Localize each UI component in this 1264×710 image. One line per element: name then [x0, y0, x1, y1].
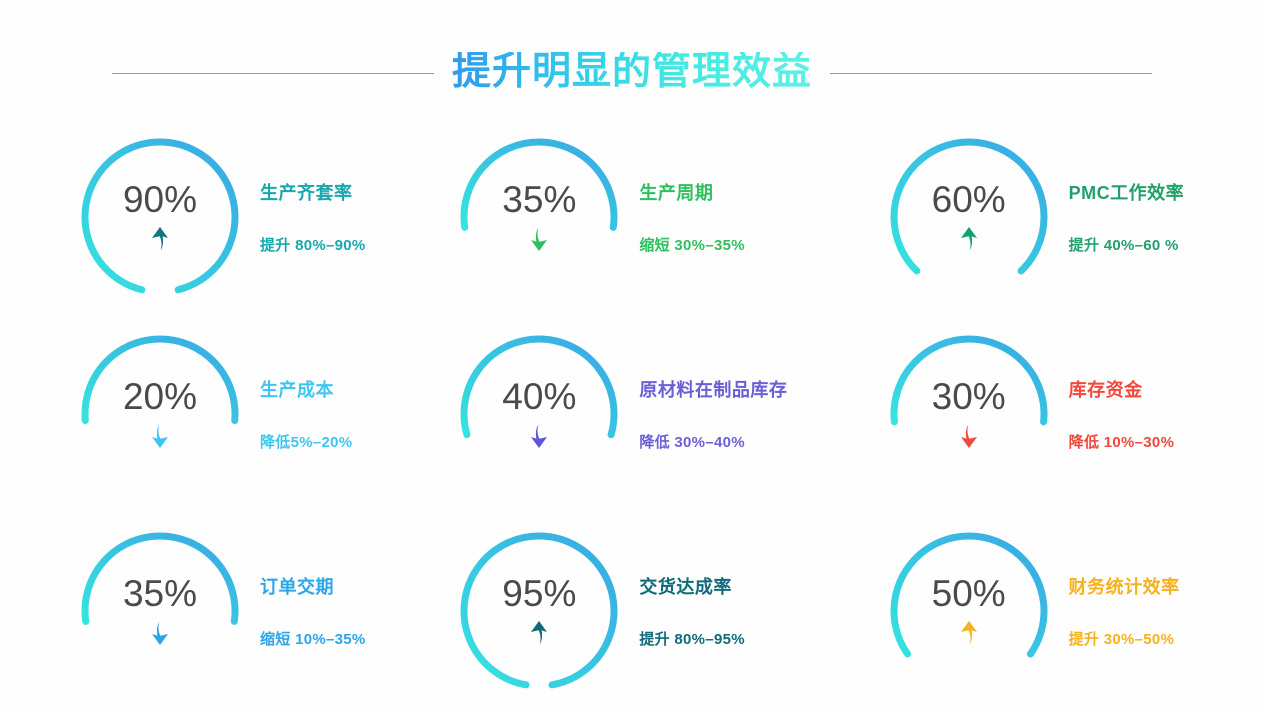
metric-card[interactable]: 35% 生产周期 缩短 30%–35% — [421, 118, 842, 315]
metric-title: 生产周期 — [639, 179, 745, 205]
metric-labels: 库存资金 降低 10%–30% — [1069, 376, 1175, 452]
metric-subtitle: 降低 30%–40% — [639, 431, 787, 452]
metric-card[interactable]: 20% 生产成本 降低5%–20% — [0, 315, 421, 512]
gauge-arc-icon — [887, 135, 1051, 299]
gauge-arc-icon — [78, 135, 242, 299]
gauge: 95% — [457, 529, 621, 693]
metric-card[interactable]: 35% 订单交期 缩短 10%–35% — [0, 513, 421, 710]
gauge: 35% — [78, 529, 242, 693]
metric-labels: 生产齐套率 提升 80%–90% — [260, 179, 366, 255]
header-rule-right — [830, 73, 1152, 74]
metric-subtitle: 缩短 10%–35% — [260, 628, 366, 649]
metric-labels: 交货达成率 提升 80%–95% — [639, 573, 745, 649]
metric-title: 生产成本 — [260, 376, 352, 402]
metrics-grid: 90% 生产齐套率 提升 80%–90% — [0, 118, 1264, 710]
metric-labels: PMC工作效率 提升 40%–60 % — [1069, 179, 1185, 255]
slide-root: 提升明显的管理效益 90% — [0, 0, 1264, 710]
gauge: 20% — [78, 332, 242, 496]
page-title: 提升明显的管理效益 — [452, 52, 812, 95]
slide-header: 提升明显的管理效益 — [0, 42, 1264, 104]
metric-subtitle: 降低 10%–30% — [1069, 431, 1175, 452]
metric-subtitle: 缩短 30%–35% — [639, 234, 745, 255]
metric-labels: 生产成本 降低5%–20% — [260, 376, 352, 452]
metric-labels: 订单交期 缩短 10%–35% — [260, 573, 366, 649]
metric-card[interactable]: 95% 交货达成率 提升 80%–95% — [421, 513, 842, 710]
gauge-arc-icon — [457, 529, 621, 693]
metric-labels: 生产周期 缩短 30%–35% — [639, 179, 745, 255]
metric-card[interactable]: 60% PMC工作效率 提升 40%–60 % — [843, 118, 1264, 315]
gauge-arc-icon — [78, 332, 242, 496]
header-rule-left — [112, 73, 434, 74]
metric-card[interactable]: 50% 财务统计效率 提升 30%–50% — [843, 513, 1264, 710]
gauge-arc-icon — [887, 332, 1051, 496]
metric-title: 生产齐套率 — [260, 179, 366, 205]
metric-subtitle: 提升 80%–95% — [639, 628, 745, 649]
metric-title: 原材料在制品库存 — [639, 376, 787, 402]
metric-labels: 财务统计效率 提升 30%–50% — [1069, 573, 1180, 649]
gauge: 30% — [887, 332, 1051, 496]
gauge-arc-icon — [457, 135, 621, 299]
gauge-arc-icon — [78, 529, 242, 693]
metric-subtitle: 提升 40%–60 % — [1069, 234, 1185, 255]
gauge: 40% — [457, 332, 621, 496]
metric-card[interactable]: 30% 库存资金 降低 10%–30% — [843, 315, 1264, 512]
gauge-arc-icon — [887, 529, 1051, 693]
gauge: 50% — [887, 529, 1051, 693]
gauge: 90% — [78, 135, 242, 299]
gauge-arc-icon — [457, 332, 621, 496]
metric-title: 库存资金 — [1069, 376, 1175, 402]
metric-card[interactable]: 90% 生产齐套率 提升 80%–90% — [0, 118, 421, 315]
metric-title: 订单交期 — [260, 573, 366, 599]
metric-title: 交货达成率 — [639, 573, 745, 599]
metric-title: 财务统计效率 — [1069, 573, 1180, 599]
gauge: 35% — [457, 135, 621, 299]
metric-labels: 原材料在制品库存 降低 30%–40% — [639, 376, 787, 452]
metric-subtitle: 提升 80%–90% — [260, 234, 366, 255]
metric-subtitle: 提升 30%–50% — [1069, 628, 1180, 649]
gauge: 60% — [887, 135, 1051, 299]
metric-title: PMC工作效率 — [1069, 179, 1185, 205]
metric-card[interactable]: 40% 原材料在制品库存 降低 30%–40% — [421, 315, 842, 512]
metric-subtitle: 降低5%–20% — [260, 431, 352, 452]
